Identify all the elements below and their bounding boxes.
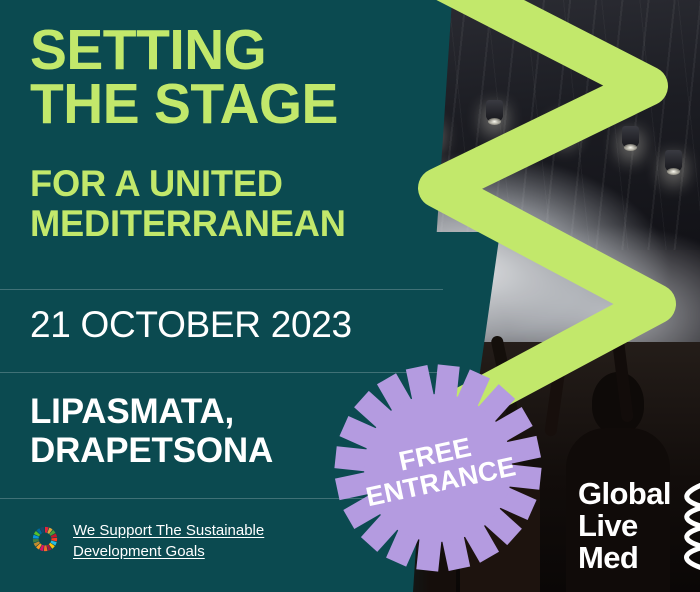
- squiggle-wave-mark: [673, 480, 700, 572]
- divider-above-date: [0, 289, 443, 290]
- venue-line-1: LIPASMATA,: [30, 392, 273, 431]
- event-date: 21 OCTOBER 2023: [30, 306, 352, 343]
- brand-line-2: Live: [578, 510, 671, 542]
- venue-line-2: DRAPETSONA: [30, 431, 273, 470]
- page-title: SETTING THE STAGE: [30, 24, 338, 131]
- subhead-line-1: FOR A UNITED: [30, 164, 346, 204]
- stage-light: [486, 100, 503, 122]
- stage-light: [556, 112, 573, 134]
- headline-line-1: SETTING: [30, 24, 338, 78]
- event-poster: SETTING THE STAGE FOR A UNITED MEDITERRA…: [0, 0, 700, 592]
- brand-wordmark: Global Live Med: [578, 478, 671, 575]
- event-venue: LIPASMATA, DRAPETSONA: [30, 392, 273, 470]
- page-subtitle: FOR A UNITED MEDITERRANEAN: [30, 164, 346, 244]
- brand-line-1: Global: [578, 478, 671, 510]
- brand-logo[interactable]: Global Live Med: [578, 478, 700, 575]
- brand-line-3: Med: [578, 542, 671, 574]
- sdg-color-wheel-icon: [30, 524, 60, 554]
- free-entrance-badge[interactable]: FREE ENTRANCE: [332, 362, 544, 574]
- starburst-shape: [332, 362, 544, 574]
- headline-line-2: THE STAGE: [30, 78, 338, 132]
- sdg-support-label[interactable]: We Support The Sustainable Development G…: [73, 521, 323, 562]
- sdg-support-row[interactable]: We Support The Sustainable Development G…: [30, 521, 323, 562]
- stage-light: [622, 126, 639, 148]
- subhead-line-2: MEDITERRANEAN: [30, 204, 346, 244]
